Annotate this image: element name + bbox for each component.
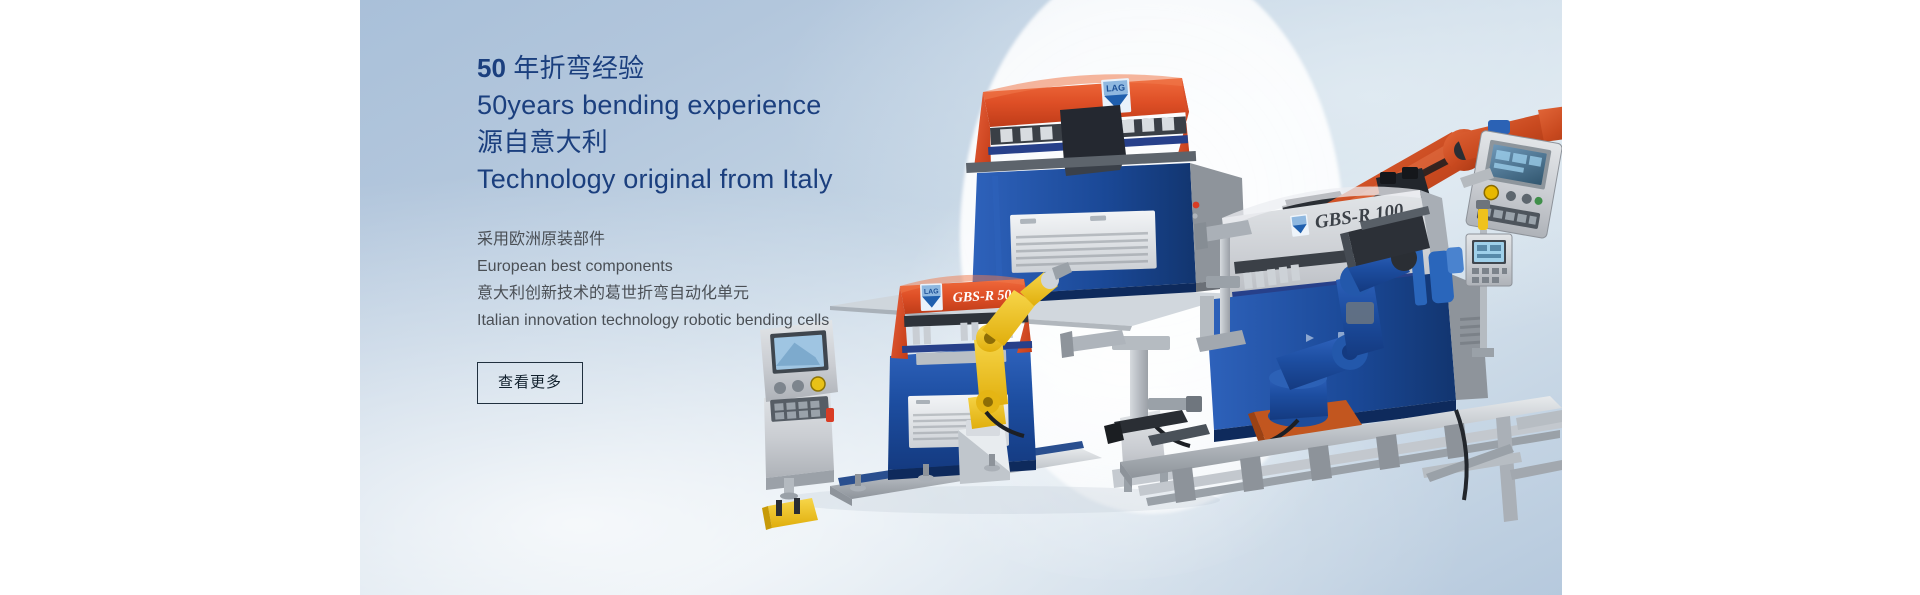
headline-line-en-1: 50years bending experience — [477, 87, 997, 124]
control-pendant-top — [1465, 130, 1562, 239]
headline-line-cn-1-text: 年折弯经验 — [506, 53, 644, 83]
hero-banner: LAG — [360, 0, 1562, 595]
subtext-line-2: European best components — [477, 253, 997, 280]
headline-number: 50 — [477, 53, 506, 83]
headline-line-cn-2: 源自意大利 — [477, 124, 997, 161]
hero-banner-page: LAG — [0, 0, 1920, 595]
headline-line-en-2: Technology original from Italy — [477, 161, 997, 198]
subtext-line-1: 采用欧洲原装部件 — [477, 226, 997, 253]
subtext-block: 采用欧洲原装部件 European best components 意大利创新技… — [477, 226, 997, 334]
subtext-line-3: 意大利创新技术的葛世折弯自动化单元 — [477, 280, 997, 307]
view-more-button[interactable]: 查看更多 — [477, 362, 583, 404]
headline-block: 50 年折弯经验 50years bending experience 源自意大… — [477, 50, 997, 198]
control-pendant-right — [1466, 200, 1512, 357]
right-steel-carrier — [1510, 410, 1562, 480]
yellow-clamp — [762, 498, 818, 530]
subtext-line-4: Italian innovation technology robotic be… — [477, 307, 997, 334]
banner-copy: 50 年折弯经验 50years bending experience 源自意大… — [477, 50, 997, 404]
headline-line-cn-1: 50 年折弯经验 — [477, 50, 997, 87]
